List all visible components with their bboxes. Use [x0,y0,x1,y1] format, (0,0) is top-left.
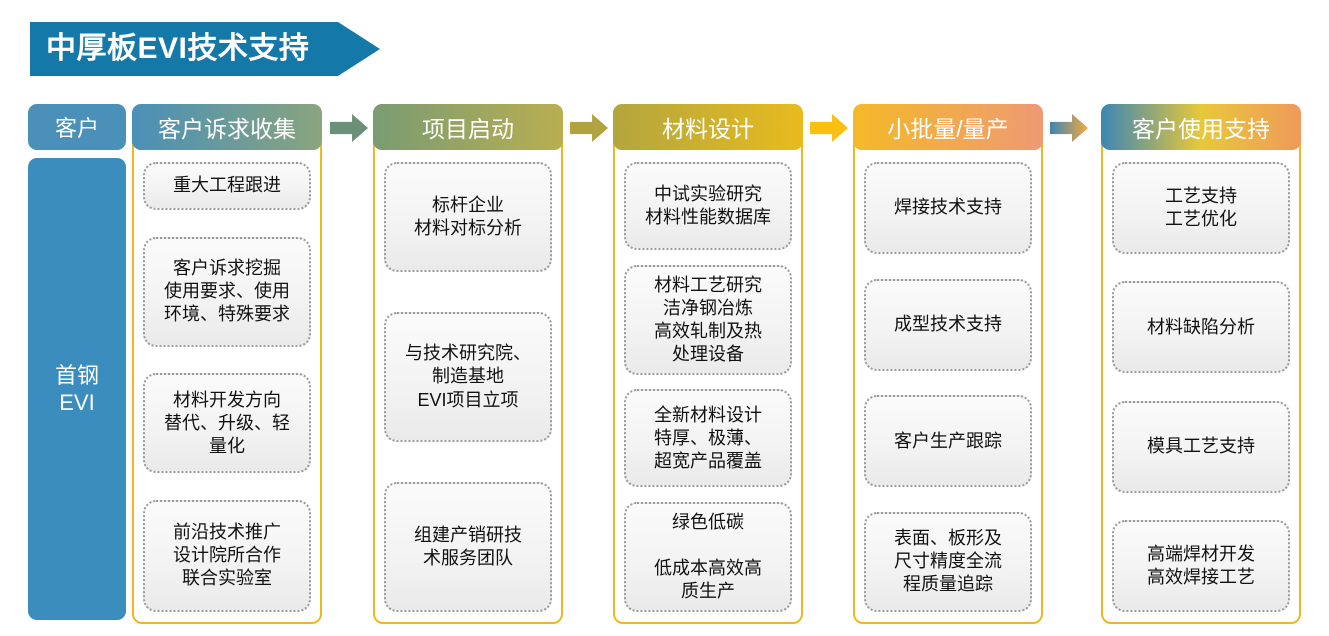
stage-card-text: 中试实验研究 材料性能数据库 [645,183,771,229]
stage-column-4: 焊接技术支持成型技术支持客户生产跟踪表面、板形及 尺寸精度全流 程质量追踪小批量… [853,100,1043,636]
stage-header-4[interactable]: 小批量/量产 [853,104,1043,150]
stage-card-text: 前沿技术推广 设计院所合作 联合实验室 [173,521,281,590]
stage-card-text: 组建产销研技 术服务团队 [414,524,522,570]
stage-card[interactable]: 焊接技术支持 [864,162,1032,254]
stage-card-text: 与技术研究院、 制造基地 EVI项目立项 [405,342,531,411]
stage-header-label: 客户使用支持 [1132,110,1270,144]
title-banner: 中厚板EVI技术支持 [30,22,380,76]
page-title: 中厚板EVI技术支持 [46,22,309,76]
stage-card[interactable]: 工艺支持 工艺优化 [1112,162,1290,254]
stage-card-text: 客户生产跟踪 [894,430,1002,453]
stage-card-text: 高端焊材开发 高效焊接工艺 [1147,543,1255,589]
stage-card[interactable]: 与技术研究院、 制造基地 EVI项目立项 [384,312,552,442]
stage-body-5: 工艺支持 工艺优化材料缺陷分析模具工艺支持高端焊材开发 高效焊接工艺 [1101,134,1301,624]
stage-card[interactable]: 重大工程跟进 [143,162,311,210]
stage-body-3: 中试实验研究 材料性能数据库材料工艺研究 洁净钢冶炼 高效轧制及热 处理设备全新… [613,134,803,624]
arrow-shape [330,114,368,142]
stage-card[interactable]: 模具工艺支持 [1112,401,1290,493]
stage-card[interactable]: 标杆企业 材料对标分析 [384,162,552,272]
stage-header-2[interactable]: 项目启动 [373,104,563,150]
customer-header: 客户 [28,104,126,150]
stage-header-3[interactable]: 材料设计 [613,104,803,150]
stage-card[interactable]: 材料开发方向 替代、升级、轻 量化 [143,373,311,473]
stage-card-text: 工艺支持 工艺优化 [1165,185,1237,231]
customer-body-label: 首钢 EVI [28,158,126,620]
stage-card-text: 绿色低碳 低成本高效高 质生产 [654,511,762,603]
stage-card[interactable]: 绿色低碳 低成本高效高 质生产 [624,502,792,612]
stage-header-label: 项目启动 [422,110,514,144]
stage-column-2: 标杆企业 材料对标分析与技术研究院、 制造基地 EVI项目立项组建产销研技 术服… [373,100,563,636]
stage-card[interactable]: 成型技术支持 [864,279,1032,371]
stage-card[interactable]: 全新材料设计 特厚、极薄、 超宽产品覆盖 [624,389,792,487]
stage-card-text: 重大工程跟进 [173,174,281,197]
stage-card[interactable]: 材料缺陷分析 [1112,281,1290,373]
stage-header-label: 小批量/量产 [887,110,1008,144]
arrow-shape [810,114,848,142]
stage-body-4: 焊接技术支持成型技术支持客户生产跟踪表面、板形及 尺寸精度全流 程质量追踪 [853,134,1043,624]
flow-arrow-icon [810,114,848,142]
stage-card[interactable]: 组建产销研技 术服务团队 [384,482,552,612]
customer-column: 客户 首钢 EVI [28,100,126,636]
stage-card[interactable]: 前沿技术推广 设计院所合作 联合实验室 [143,500,311,612]
stage-card-text: 全新材料设计 特厚、极薄、 超宽产品覆盖 [654,404,762,473]
stage-card-text: 焊接技术支持 [894,196,1002,219]
stage-card-text: 材料缺陷分析 [1147,316,1255,339]
stage-card[interactable]: 表面、板形及 尺寸精度全流 程质量追踪 [864,512,1032,612]
stage-card[interactable]: 中试实验研究 材料性能数据库 [624,162,792,250]
stage-card[interactable]: 客户生产跟踪 [864,395,1032,487]
stage-column-5: 工艺支持 工艺优化材料缺陷分析模具工艺支持高端焊材开发 高效焊接工艺客户使用支持 [1101,100,1301,636]
stage-card-text: 成型技术支持 [894,313,1002,336]
stage-card-text: 客户诉求挖掘 使用要求、使用 环境、特殊要求 [164,257,290,326]
process-flow: 客户 首钢 EVI 重大工程跟进客户诉求挖掘 使用要求、使用 环境、特殊要求材料… [0,100,1329,636]
stage-card-text: 材料工艺研究 洁净钢冶炼 高效轧制及热 处理设备 [654,274,762,366]
stage-card-text: 材料开发方向 替代、升级、轻 量化 [164,389,290,458]
stage-body-2: 标杆企业 材料对标分析与技术研究院、 制造基地 EVI项目立项组建产销研技 术服… [373,134,563,624]
flow-arrow-icon [570,114,608,142]
stage-card-text: 标杆企业 材料对标分析 [414,194,522,240]
stage-card-text: 模具工艺支持 [1147,435,1255,458]
flow-arrow-icon [330,114,368,142]
stage-column-3: 中试实验研究 材料性能数据库材料工艺研究 洁净钢冶炼 高效轧制及热 处理设备全新… [613,100,803,636]
stage-header-5[interactable]: 客户使用支持 [1101,104,1301,150]
arrow-shape [1050,114,1088,142]
flow-arrow-icon [1050,114,1088,142]
stage-header-label: 客户诉求收集 [158,110,296,144]
stage-header-1[interactable]: 客户诉求收集 [132,104,322,150]
stage-card[interactable]: 客户诉求挖掘 使用要求、使用 环境、特殊要求 [143,237,311,347]
stage-column-1: 重大工程跟进客户诉求挖掘 使用要求、使用 环境、特殊要求材料开发方向 替代、升级… [132,100,322,636]
stage-header-label: 材料设计 [662,110,754,144]
stage-card-text: 表面、板形及 尺寸精度全流 程质量追踪 [894,527,1002,596]
arrow-shape [570,114,608,142]
stage-body-1: 重大工程跟进客户诉求挖掘 使用要求、使用 环境、特殊要求材料开发方向 替代、升级… [132,134,322,624]
stage-card[interactable]: 高端焊材开发 高效焊接工艺 [1112,520,1290,612]
stage-card[interactable]: 材料工艺研究 洁净钢冶炼 高效轧制及热 处理设备 [624,265,792,375]
customer-body-text: 首钢 EVI [55,362,99,417]
